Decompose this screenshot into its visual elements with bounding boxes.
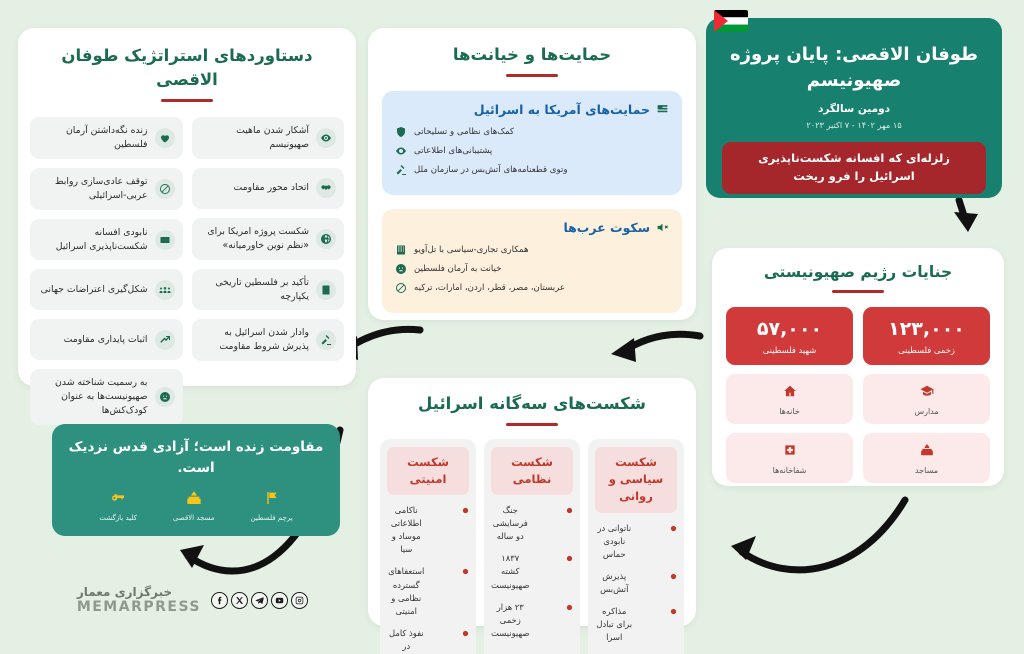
brand-footer: خبرگزاری معمار MEMARPRESS [82, 576, 308, 624]
ban-icon [155, 179, 175, 199]
instagram-icon[interactable] [291, 592, 308, 609]
bullet-icon [639, 608, 678, 615]
bullet-icon [535, 604, 574, 611]
sad-face-icon [155, 387, 175, 407]
bullet-icon [535, 555, 574, 562]
list-item[interactable]: توقف عادی‌سازی روابط عربی-اسرائیلی [30, 168, 183, 210]
list-item[interactable]: شکست پروژه امریکا برای «نظم نوین خاورمیا… [192, 218, 345, 260]
list-item-label: تأکید بر فلسطین تاریخی یکپارچه [200, 276, 310, 304]
heart-icon [155, 128, 175, 148]
list-item: ناکامی اطلاعاتی موساد و سیا [387, 504, 469, 556]
resistance-title: مقاومت زنده است؛ آزادی قدس نزدیک است. [66, 437, 326, 479]
book-icon [316, 280, 336, 300]
failure-column-military: شکست نظامی جنگ فرسایشی دو ساله ۱۸۳۷ کشته… [484, 439, 580, 654]
column-heading: شکست نظامی [491, 447, 573, 496]
target-label: خانه‌ها [730, 407, 849, 416]
facebook-icon[interactable] [211, 592, 228, 609]
target-card-hospitals: شفاخانه‌ها [726, 433, 853, 483]
supports-panel: حمایت‌ها و خیانت‌ها حمایت‌های آمریکا به … [368, 28, 696, 320]
building-icon [395, 244, 407, 256]
target-card-homes: خانه‌ها [726, 374, 853, 424]
list-item[interactable]: وتوی قطعنامه‌های آتش‌بس در سازمان ملل [395, 164, 669, 176]
list-item-label: شکست پروژه امریکا برای «نظم نوین خاورمیا… [200, 225, 310, 253]
flag-icon [264, 490, 280, 506]
bullet-icon [431, 568, 470, 575]
stat-label: زخمی فلسطینی [869, 345, 984, 355]
list-item: پذیرش آتش‌بس [595, 570, 677, 596]
section-heading: سکوت عرب‌ها [395, 220, 669, 235]
bullet-icon [431, 630, 469, 637]
eye-icon [395, 145, 407, 157]
list-item-label: به رسمیت شناخته شدن صهیونیست‌ها به عنوان… [38, 376, 148, 418]
stat-value: ۱۲۳,۰۰۰ [869, 318, 984, 340]
hospital-cross-icon [783, 443, 797, 457]
failures-grid: شکست سیاسی و روانی ناتوانی در نابودی حما… [380, 439, 684, 654]
list-item[interactable]: پشتیبانی‌های اطلاعاتی [395, 145, 669, 157]
handshake-icon [316, 178, 336, 198]
stat-card-injured: ۱۲۳,۰۰۰ زخمی فلسطینی [863, 307, 990, 365]
list-item-label: ناکامی اطلاعاتی موساد و سیا [387, 504, 426, 556]
section-heading: حمایت‌های آمریکا به اسرائیل [395, 102, 669, 117]
list-item-label: ناتوانی در نابودی حماس [595, 522, 634, 561]
list-item: ۲۳ هزار زخمی صهیونیست [491, 601, 573, 640]
supports-title: حمایت‌ها و خیانت‌ها [382, 43, 682, 67]
targets-row-1: مدارس خانه‌ها [726, 374, 990, 424]
icon-label: کلید بازگشت [99, 514, 137, 522]
list-item-label: وادار شدن اسرائیل به پذیرش شروط مقاومت [200, 326, 310, 354]
social-links [211, 592, 308, 609]
failure-column-political: شکست سیاسی و روانی ناتوانی در نابودی حما… [588, 439, 684, 654]
resistance-icons: پرچم فلسطین مسجد الاقصی کلید بازگشت [66, 490, 326, 522]
arab-silence-section: سکوت عرب‌ها همکاری تجاری-سیاسی با تل‌آوی… [382, 209, 682, 313]
list-item[interactable]: همکاری تجاری-سیاسی با تل‌آویو [395, 244, 669, 256]
list-item-label: پذیرش آتش‌بس [595, 570, 634, 596]
list-item: نفوذ کامل در سیستم‌های دفاعی [387, 627, 469, 654]
key-icon [110, 490, 126, 506]
crimes-title: جنایات رژیم صهیونیستی [726, 261, 990, 283]
palestine-flag-icon [714, 10, 748, 32]
title-divider [506, 74, 558, 77]
brand-name-en: MEMARPRESS [77, 599, 201, 615]
list-item-label: خیانت به آرمان فلسطین [414, 264, 501, 274]
list-item-label: کمک‌های نظامی و تسلیحاتی [414, 127, 514, 137]
achievements-column-right: زنده نگه‌داشتن آرمان فلسطین توقف عادی‌سا… [30, 117, 183, 425]
list-item-label: نفوذ کامل در سیستم‌های دفاعی [387, 627, 426, 654]
list-item-label: اتحاد محور مقاومت [200, 181, 310, 195]
list-item-label: آشکار شدن ماهیت صهیونیسم [200, 124, 310, 152]
usa-flag-icon [656, 103, 669, 116]
list-item-label: عربستان، مصر، قطر، اردن، امارات، ترکیه [414, 283, 565, 293]
brand-text: خبرگزاری معمار MEMARPRESS [77, 585, 201, 615]
crimes-panel: جنایات رژیم صهیونیستی ۱۲۳,۰۰۰ زخمی فلسطی… [712, 248, 1004, 486]
infographic-canvas: دستاوردهای استراتژیک طوفان الاقصی آشکار … [0, 0, 1024, 654]
people-icon [155, 280, 175, 300]
resistance-icon-mosque: مسجد الاقصی [173, 490, 215, 522]
section-heading-label: حمایت‌های آمریکا به اسرائیل [474, 102, 650, 117]
resistance-banner: مقاومت زنده است؛ آزادی قدس نزدیک است. پر… [52, 424, 340, 536]
list-item-label: مذاکره برای تبادل اسرا [595, 605, 634, 644]
shield-icon [395, 126, 407, 138]
list-item: جنگ فرسایشی دو ساله [491, 504, 573, 543]
icon-label: پرچم فلسطین [251, 514, 293, 522]
bullet-icon [535, 507, 574, 514]
mosque-icon [920, 443, 934, 457]
resistance-icon-flag: پرچم فلسطین [251, 490, 293, 522]
list-item[interactable]: نابودی افسانه شکست‌ناپذیری اسرائیل [30, 219, 183, 261]
list-item[interactable]: آشکار شدن ماهیت صهیونیسم [192, 117, 345, 159]
section-heading-label: سکوت عرب‌ها [563, 220, 650, 235]
list-item[interactable]: تأکید بر فلسطین تاریخی یکپارچه [192, 269, 345, 311]
title-divider [161, 99, 213, 102]
list-item: مذاکره برای تبادل اسرا [595, 605, 677, 644]
list-item-label: اثبات پایداری مقاومت [38, 333, 148, 347]
mosque-icon [186, 490, 202, 506]
header-subtitle: دومین سالگرد [722, 103, 986, 115]
header-banner: زلزله‌ای که افسانه شکست‌ناپذیری اسرائیل … [722, 142, 986, 194]
gavel-icon [316, 330, 336, 350]
list-item-label: شکل‌گیری اعتراضات جهانی [38, 283, 148, 297]
list-item-label: پشتیبانی‌های اطلاعاتی [414, 146, 492, 156]
us-support-section: حمایت‌های آمریکا به اسرائیل کمک‌های نظام… [382, 91, 682, 195]
list-item-label: ۱۸۳۷ کشته صهیونیست [491, 552, 530, 591]
no-entry-icon [395, 282, 407, 294]
page-title: طوفان الاقصی: پایان پروژه صهیونیسم [722, 42, 986, 94]
home-icon [783, 384, 797, 398]
list-item[interactable]: خیانت به آرمان فلسطین [395, 263, 669, 275]
youtube-icon[interactable] [271, 592, 288, 609]
bullet-icon [639, 525, 678, 532]
stat-row: ۱۲۳,۰۰۰ زخمی فلسطینی ۵۷,۰۰۰ شهید فلسطینی [726, 307, 990, 365]
achievements-grid: آشکار شدن ماهیت صهیونیسم اتحاد محور مقاو… [30, 117, 344, 425]
target-label: شفاخانه‌ها [730, 466, 849, 475]
targets-row-2: مساجد شفاخانه‌ها [726, 433, 990, 483]
target-label: مساجد [867, 466, 986, 475]
target-card-schools: مدارس [863, 374, 990, 424]
list-item[interactable]: اثبات پایداری مقاومت [30, 319, 183, 360]
list-item-label: نابودی افسانه شکست‌ناپذیری اسرائیل [38, 226, 148, 254]
icon-label: مسجد الاقصی [173, 514, 215, 522]
target-label: مدارس [867, 407, 986, 416]
failures-panel: شکست‌های سه‌گانه اسرائیل شکست سیاسی و رو… [368, 378, 696, 626]
achievements-column-left: آشکار شدن ماهیت صهیونیسم اتحاد محور مقاو… [192, 117, 345, 362]
bullet-icon [431, 507, 470, 514]
list-item[interactable]: کمک‌های نظامی و تسلیحاتی [395, 126, 669, 138]
target-card-mosques: مساجد [863, 433, 990, 483]
brand-name-fa: خبرگزاری معمار [77, 585, 201, 599]
title-divider [506, 423, 558, 426]
list-item: ۱۸۳۷ کشته صهیونیست [491, 552, 573, 591]
globe-icon [316, 229, 336, 249]
telegram-icon[interactable] [251, 592, 268, 609]
mute-icon [656, 221, 669, 234]
list-item[interactable]: اتحاد محور مقاومت [192, 168, 345, 209]
header-card: طوفان الاقصی: پایان پروژه صهیونیسم دومین… [706, 18, 1002, 198]
list-item[interactable]: شکل‌گیری اعتراضات جهانی [30, 269, 183, 310]
header-date: ۱۵ مهر ۱۴۰۲ - ۷ اکتبر ۲۰۲۳ [722, 120, 986, 130]
list-item-label: استعفاهای گسترده نظامی و امنیتی [387, 565, 426, 617]
failure-column-security: شکست امنیتی ناکامی اطلاعاتی موساد و سیا … [380, 439, 476, 654]
x-icon[interactable] [231, 592, 248, 609]
sad-face-icon [395, 263, 407, 275]
list-item-label: زنده نگه‌داشتن آرمان فلسطین [38, 124, 148, 152]
page-title: دستاوردهای استراتژیک طوفان الاقصی [30, 44, 344, 92]
list-item-label: وتوی قطعنامه‌های آتش‌بس در سازمان ملل [414, 165, 568, 175]
list-item-label: همکاری تجاری-سیاسی با تل‌آویو [414, 245, 529, 255]
list-item-label: توقف عادی‌سازی روابط عربی-اسرائیلی [38, 175, 148, 203]
list-item[interactable]: به رسمیت شناخته شدن صهیونیست‌ها به عنوان… [30, 369, 183, 425]
list-item[interactable]: زنده نگه‌داشتن آرمان فلسطین [30, 117, 183, 159]
graduation-cap-icon [920, 384, 934, 398]
title-divider [832, 290, 884, 293]
list-item: استعفاهای گسترده نظامی و امنیتی [387, 565, 469, 617]
trend-arrow-icon [155, 330, 175, 350]
bullet-icon [639, 573, 678, 580]
stat-card-martyrs: ۵۷,۰۰۰ شهید فلسطینی [726, 307, 853, 365]
list-item-label: جنگ فرسایشی دو ساله [491, 504, 530, 543]
broken-shield-icon [155, 230, 175, 250]
stat-label: شهید فلسطینی [732, 345, 847, 355]
veto-icon [395, 164, 407, 176]
list-item-label: ۲۳ هزار زخمی صهیونیست [491, 601, 530, 640]
resistance-icon-key: کلید بازگشت [99, 490, 137, 522]
column-heading: شکست سیاسی و روانی [595, 447, 677, 513]
achievements-panel: دستاوردهای استراتژیک طوفان الاقصی آشکار … [18, 28, 356, 386]
list-item[interactable]: عربستان، مصر، قطر، اردن، امارات، ترکیه [395, 282, 669, 294]
column-heading: شکست امنیتی [387, 447, 469, 496]
stat-value: ۵۷,۰۰۰ [732, 318, 847, 340]
failures-title: شکست‌های سه‌گانه اسرائیل [380, 392, 684, 416]
eye-icon [316, 128, 336, 148]
list-item[interactable]: وادار شدن اسرائیل به پذیرش شروط مقاومت [192, 319, 345, 361]
list-item: ناتوانی در نابودی حماس [595, 522, 677, 561]
